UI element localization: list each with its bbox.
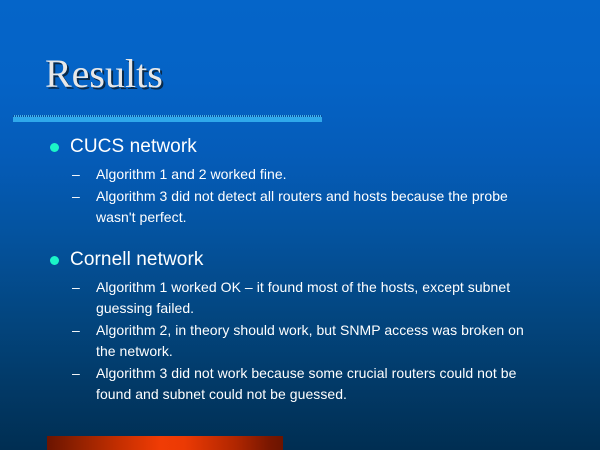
list-item-text: Algorithm 3 did not detect all routers a…: [96, 186, 546, 228]
dash-bullet-icon: –: [72, 277, 80, 298]
section-heading: Cornell network: [70, 247, 550, 273]
bullet-section-1: CUCS network: [0, 134, 600, 160]
list-item-text: Algorithm 2, in theory should work, but …: [96, 320, 546, 362]
title-block: Results: [45, 52, 545, 96]
list-item: – Algorithm 1 worked OK – it found most …: [70, 277, 548, 319]
bullet-circle-icon: [50, 256, 59, 265]
presentation-slide: Results CUCS network – Algorithm 1 and 2…: [0, 0, 600, 450]
list-item-text: Algorithm 1 worked OK – it found most of…: [96, 277, 546, 319]
list-item: – Algorithm 3 did not detect all routers…: [70, 186, 548, 228]
sub-bullet-list-2: – Algorithm 1 worked OK – it found most …: [70, 277, 548, 405]
bottom-accent-bar: [47, 436, 283, 450]
list-item: – Algorithm 1 and 2 worked fine.: [70, 164, 548, 185]
title-divider-bar: [13, 115, 322, 122]
list-item-text: Algorithm 3 did not work because some cr…: [96, 363, 546, 405]
section-heading: CUCS network: [70, 134, 550, 160]
list-item: – Algorithm 2, in theory should work, bu…: [70, 320, 548, 362]
dash-bullet-icon: –: [72, 186, 80, 207]
list-item: – Algorithm 3 did not work because some …: [70, 363, 548, 405]
bullet-section-2: Cornell network: [0, 247, 600, 273]
sub-bullet-list-1: – Algorithm 1 and 2 worked fine. – Algor…: [70, 164, 548, 228]
dash-bullet-icon: –: [72, 320, 80, 341]
dash-bullet-icon: –: [72, 164, 80, 185]
dash-bullet-icon: –: [72, 363, 80, 384]
list-item-text: Algorithm 1 and 2 worked fine.: [96, 164, 546, 185]
section-spacer: [0, 229, 600, 247]
bullet-circle-icon: [50, 143, 59, 152]
slide-body: CUCS network – Algorithm 1 and 2 worked …: [0, 134, 600, 406]
page-title: Results: [45, 52, 545, 96]
